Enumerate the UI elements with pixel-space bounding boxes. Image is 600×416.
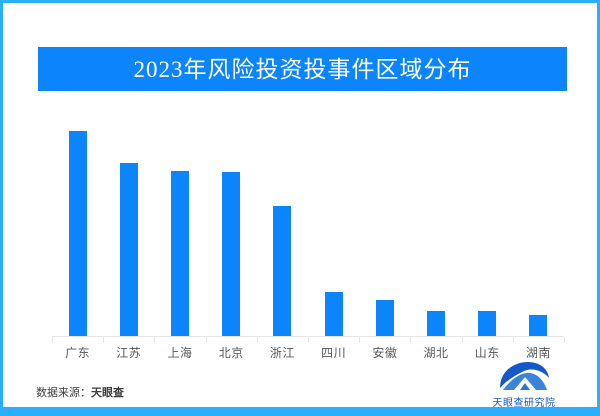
axis-tick [513,337,514,343]
x-axis-label: 湖南 [513,344,564,361]
axis-tick [410,337,411,343]
x-axis-label: 安徽 [359,344,410,361]
x-axis-label: 山东 [462,344,513,361]
x-axis-label: 浙江 [257,344,308,361]
axis-tick [462,337,463,343]
axis-tick [103,337,104,343]
bar-slot [103,123,154,336]
bottom-accent-bar [3,407,600,416]
data-source-note: 数据来源：天眼查 [36,384,124,400]
brand-logo: 天眼查研究院 [483,361,565,409]
chart-poster: 2023年风险投资投事件区域分布 广东江苏上海北京浙江四川安徽湖北山东湖南 数据… [0,0,600,416]
data-source-value: 天眼查 [91,387,124,399]
bar-chart-plot-area [52,123,564,337]
bar [171,171,189,336]
x-axis-label: 北京 [206,344,257,361]
eye-arch-logo-icon [498,361,550,391]
x-axis-label: 四川 [308,344,359,361]
bar-slot [154,123,205,336]
bar-slot [513,123,564,336]
bar [69,131,87,336]
bar-slot [410,123,461,336]
axis-tick [359,337,360,343]
axis-tick [206,337,207,343]
axis-tick [308,337,309,343]
bar [478,311,496,336]
bar [273,206,291,336]
page-title: 2023年风险投资投事件区域分布 [134,58,472,81]
bar [376,300,394,336]
bar-slot [257,123,308,336]
bar-slot [206,123,257,336]
bar-slot [308,123,359,336]
x-axis-ticks [52,337,564,343]
title-banner: 2023年风险投资投事件区域分布 [38,47,567,91]
bar [325,292,343,336]
axis-tick [564,337,565,343]
bar-slot [52,123,103,336]
x-axis-label: 江苏 [103,344,154,361]
bar [222,172,240,336]
x-axis-label: 湖北 [410,344,461,361]
bar-series [52,123,564,336]
axis-tick [257,337,258,343]
bar [529,315,547,336]
x-axis-label: 广东 [52,344,103,361]
data-source-label: 数据来源： [36,387,91,399]
bar [120,163,138,336]
bar [427,311,445,336]
x-axis-label: 上海 [154,344,205,361]
bar-slot [462,123,513,336]
axis-tick [52,337,53,343]
bar-slot [359,123,410,336]
x-axis-category-labels: 广东江苏上海北京浙江四川安徽湖北山东湖南 [52,344,564,361]
axis-tick [154,337,155,343]
